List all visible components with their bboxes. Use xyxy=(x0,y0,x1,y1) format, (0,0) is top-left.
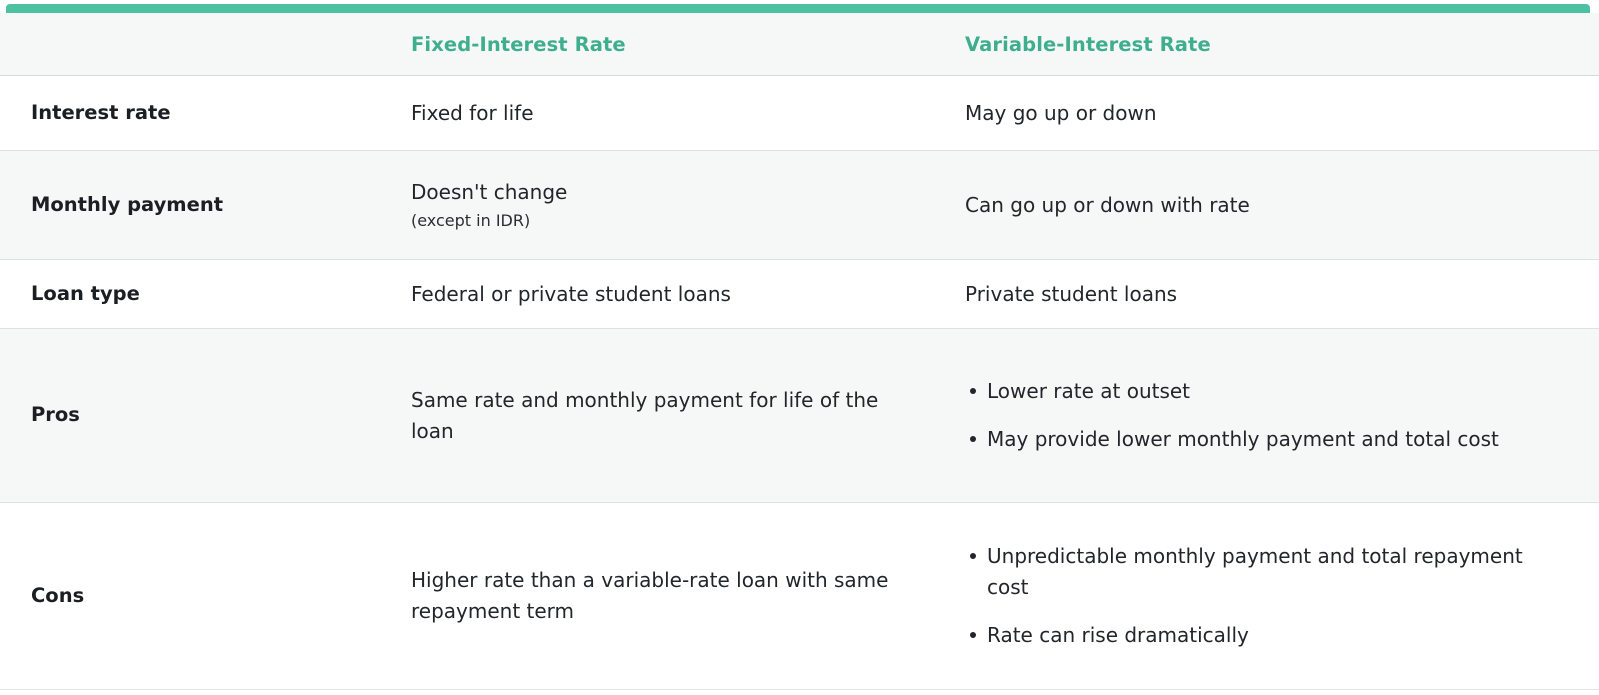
column-header-fixed-interest-rate: Fixed-Interest Rate xyxy=(380,13,937,76)
cell-text: Doesn't change xyxy=(411,177,897,208)
row-label-interest-rate: Interest rate xyxy=(0,76,380,151)
column-header-attribute xyxy=(0,13,380,76)
bullet-list: Unpredictable monthly payment and total … xyxy=(965,541,1559,651)
cell-variable-cons: Unpredictable monthly payment and total … xyxy=(937,503,1599,690)
cell-fixed-cons: Higher rate than a variable-rate loan wi… xyxy=(380,503,937,690)
table-row: Interest rate Fixed for life May go up o… xyxy=(0,76,1599,151)
row-label-loan-type: Loan type xyxy=(0,260,380,329)
cell-variable-pros: Lower rate at outset May provide lower m… xyxy=(937,329,1599,503)
cell-text: Higher rate than a variable-rate loan wi… xyxy=(380,565,937,627)
row-label-monthly-payment: Monthly payment xyxy=(0,151,380,260)
row-label-text: Cons xyxy=(0,581,380,611)
cell-variable-interest-rate: May go up or down xyxy=(937,76,1599,151)
table-header-row: Fixed-Interest Rate Variable-Interest Ra… xyxy=(0,13,1599,76)
bullet-list: Lower rate at outset May provide lower m… xyxy=(965,376,1559,455)
cell-text: Fixed for life xyxy=(380,98,937,129)
table-top-accent-bar xyxy=(6,4,1590,13)
comparison-table-container: Fixed-Interest Rate Variable-Interest Ra… xyxy=(0,0,1599,690)
cell-text-block: Doesn't change (except in IDR) xyxy=(380,177,937,232)
row-label-text: Interest rate xyxy=(0,98,380,128)
column-header-variable-label: Variable-Interest Rate xyxy=(937,33,1599,56)
table-row: Pros Same rate and monthly payment for l… xyxy=(0,329,1599,503)
table-row: Monthly payment Doesn't change (except i… xyxy=(0,151,1599,260)
cell-variable-loan-type: Private student loans xyxy=(937,260,1599,329)
row-label-pros: Pros xyxy=(0,329,380,503)
cell-fixed-monthly-payment: Doesn't change (except in IDR) xyxy=(380,151,937,260)
cell-text: Same rate and monthly payment for life o… xyxy=(380,385,937,447)
row-label-text: Monthly payment xyxy=(0,190,380,220)
list-item: Unpredictable monthly payment and total … xyxy=(987,541,1559,603)
cell-bullet-list-wrap: Unpredictable monthly payment and total … xyxy=(937,541,1599,651)
column-header-fixed-label: Fixed-Interest Rate xyxy=(380,33,937,56)
table-row: Loan type Federal or private student loa… xyxy=(0,260,1599,329)
fixed-vs-variable-comparison-table: Fixed-Interest Rate Variable-Interest Ra… xyxy=(0,13,1599,690)
cell-text: Private student loans xyxy=(937,279,1599,310)
cell-fixed-pros: Same rate and monthly payment for life o… xyxy=(380,329,937,503)
cell-bullet-list-wrap: Lower rate at outset May provide lower m… xyxy=(937,376,1599,455)
list-item: May provide lower monthly payment and to… xyxy=(987,424,1559,455)
cell-text: Can go up or down with rate xyxy=(937,190,1599,221)
row-label-cons: Cons xyxy=(0,503,380,690)
row-label-text: Loan type xyxy=(0,279,380,309)
cell-fixed-loan-type: Federal or private student loans xyxy=(380,260,937,329)
cell-fixed-interest-rate: Fixed for life xyxy=(380,76,937,151)
table-body: Interest rate Fixed for life May go up o… xyxy=(0,76,1599,690)
cell-subnote: (except in IDR) xyxy=(411,210,897,232)
row-label-text: Pros xyxy=(0,400,380,430)
table-header: Fixed-Interest Rate Variable-Interest Ra… xyxy=(0,13,1599,76)
list-item: Rate can rise dramatically xyxy=(987,620,1559,651)
cell-text: Federal or private student loans xyxy=(380,279,937,310)
table-row: Cons Higher rate than a variable-rate lo… xyxy=(0,503,1599,690)
list-item: Lower rate at outset xyxy=(987,376,1559,407)
column-header-variable-interest-rate: Variable-Interest Rate xyxy=(937,13,1599,76)
cell-text: May go up or down xyxy=(937,98,1599,129)
cell-variable-monthly-payment: Can go up or down with rate xyxy=(937,151,1599,260)
